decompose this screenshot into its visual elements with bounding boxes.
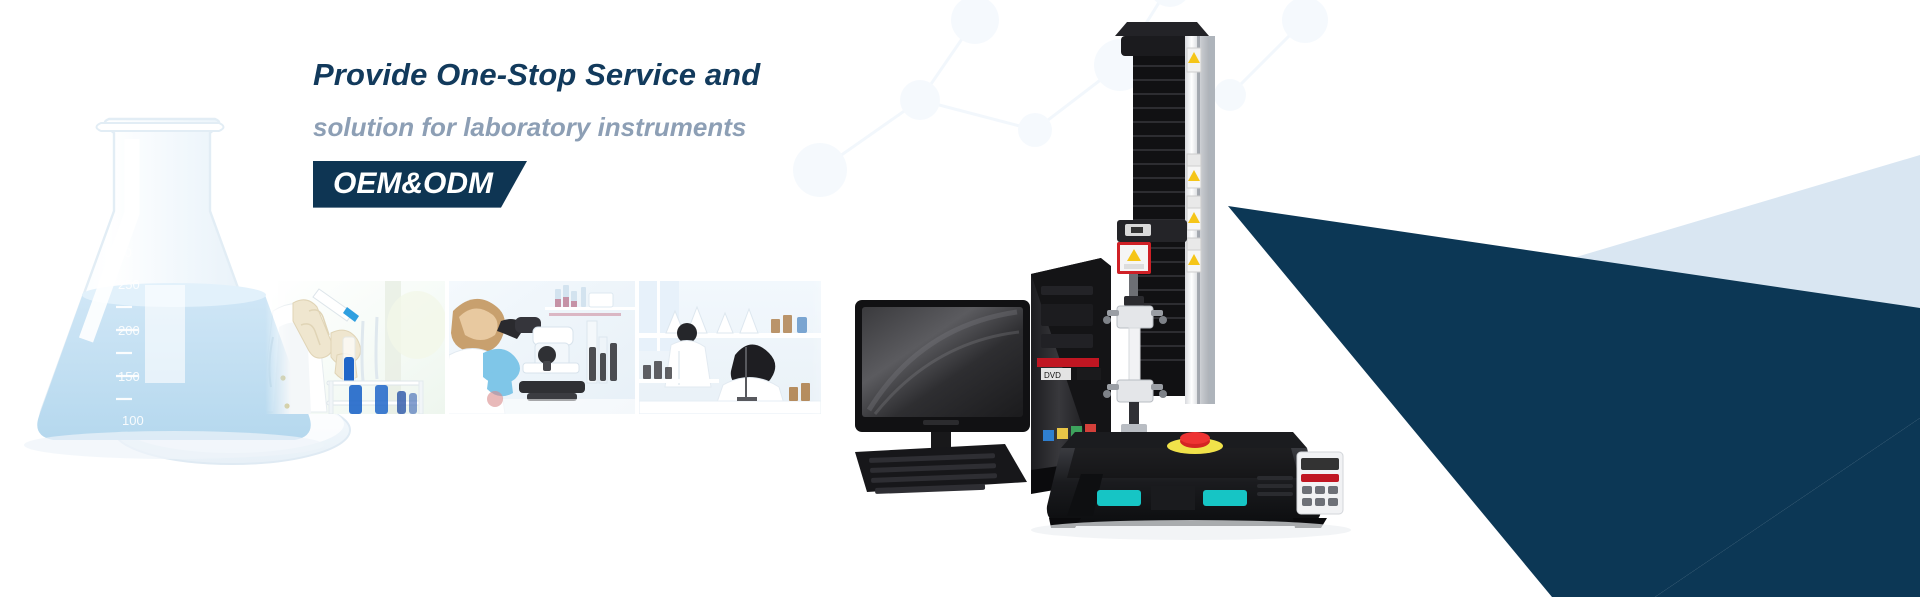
navy-corner-shape: [1655, 418, 1920, 597]
photo-pipetting-test-tubes: [265, 281, 445, 414]
svg-text:300: 300: [110, 245, 132, 260]
keyboard: [855, 444, 1027, 494]
svg-text:250: 250: [118, 277, 140, 292]
list-item: [449, 281, 635, 414]
photo-lab-bench-team: [639, 281, 821, 414]
lab-photo-strip: [265, 281, 821, 414]
oem-odm-badge: OEM&ODM: [313, 161, 527, 208]
hero-banner: 300 250 200 150 100 mL Provide One-Stop …: [0, 0, 1920, 597]
photo-microscope-work: [449, 281, 635, 414]
list-item: [639, 281, 821, 414]
svg-text:DVD: DVD: [1044, 371, 1061, 380]
svg-text:150: 150: [118, 369, 140, 384]
equipment-illustration: DVD: [845, 0, 1465, 597]
light-blue-arrow-shape: [1465, 155, 1920, 365]
svg-text:100: 100: [122, 413, 144, 428]
svg-text:200: 200: [118, 323, 140, 338]
svg-text:mL: mL: [70, 256, 87, 270]
list-item: [265, 281, 445, 414]
